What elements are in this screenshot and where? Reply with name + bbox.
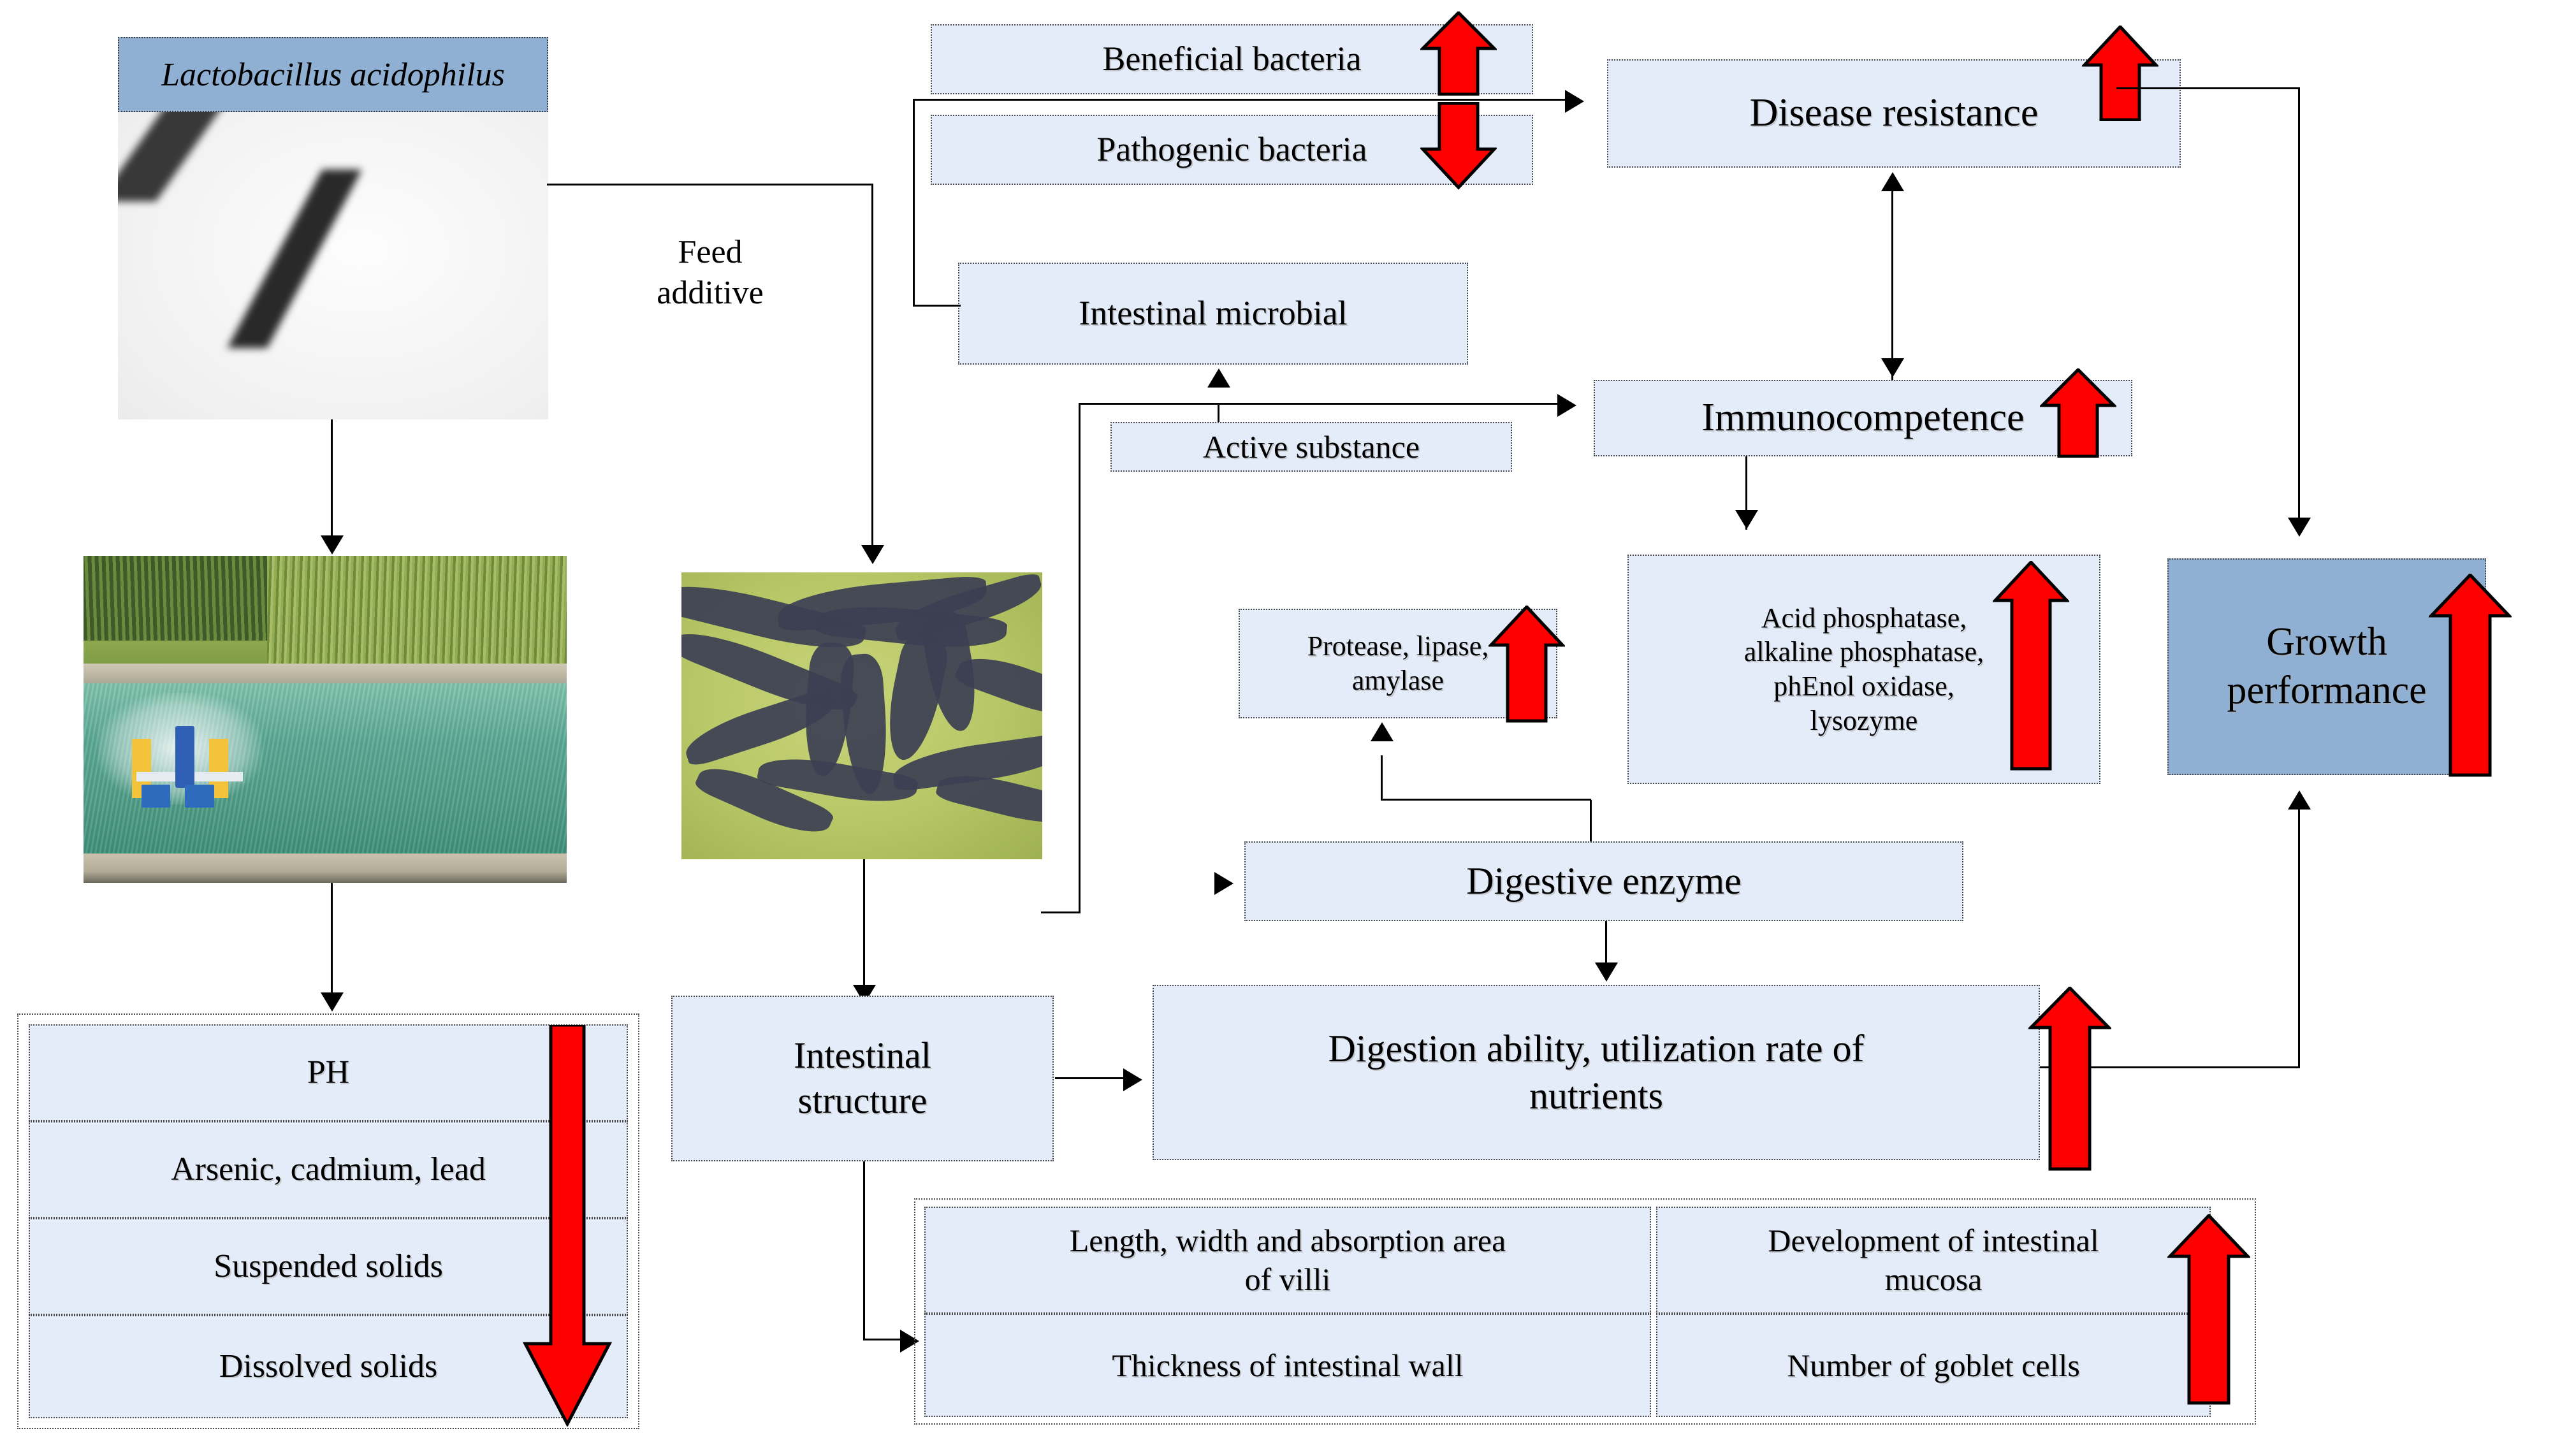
node-feed-additive[interactable]: Feed additive: [622, 210, 799, 335]
arrowhead-to-immunocompetence: [1557, 394, 1576, 417]
connector-to-immunocompetence: [1079, 403, 1562, 405]
connector-structure-to-villi-vertical: [863, 1161, 865, 1340]
bacteria-image-panel: Lactobacillus acidophilus: [118, 37, 548, 419]
bacteria-caption: Lactobacillus acidophilus: [118, 37, 548, 112]
arrowhead-immuno-to-disease: [1881, 172, 1904, 191]
arrowhead-enzyme-to-digestion: [1595, 962, 1618, 982]
connector-digestion-to-growth-vertical: [2298, 807, 2300, 1068]
node-goblet-cells[interactable]: Number of goblet cells: [1656, 1314, 2211, 1417]
red-up-arrow-icon-digestive-enzymes-list: [1488, 606, 1565, 723]
connector-enzyme-to-list-horizontal: [1381, 799, 1591, 801]
arrowhead-feed-to-fish: [861, 545, 884, 564]
node-intestinal-microbial[interactable]: Intestinal microbial: [958, 263, 1468, 365]
connector-feed-additive-drop: [871, 184, 873, 553]
connector-microbial-to-disease-resistance: [913, 99, 1569, 101]
pond-photo: [84, 556, 567, 883]
bacteria-micrograph: [118, 112, 548, 419]
node-active-substance[interactable]: Active substance: [1110, 422, 1512, 472]
connector-structure-to-villi-horizontal: [863, 1339, 903, 1340]
arrowhead-disease-to-growth: [2288, 518, 2311, 537]
node-intestinal-structure[interactable]: Intestinal structure: [671, 996, 1054, 1161]
connector-disease-to-growth-top: [2116, 87, 2300, 89]
node-digestion-ability[interactable]: Digestion ability, utilization rate of n…: [1153, 985, 2040, 1160]
arrowhead-digestion-to-growth: [2288, 790, 2311, 810]
red-up-arrow-icon-growth-performance: [2429, 574, 2512, 778]
connector-bacteria-to-pond: [331, 419, 333, 544]
connector-enzyme-to-list-up: [1381, 755, 1383, 800]
connector-bacteria-out: [547, 184, 873, 185]
node-intestinal-wall[interactable]: Thickness of intestinal wall: [924, 1314, 1651, 1417]
flowchart-canvas: Lactobacillus acidophilus PH Arsenic, ca…: [0, 0, 2576, 1438]
connector-fish-to-immuno-vertical: [1079, 403, 1081, 913]
arrowhead-disease-to-immuno: [1881, 358, 1904, 377]
arrowhead-immuno-to-enzymes: [1735, 510, 1758, 529]
node-mucosa[interactable]: Development of intestinal mucosa: [1656, 1207, 2211, 1314]
red-down-arrow-icon-water-quality: [523, 1025, 612, 1427]
red-up-arrow-icon-digestion-ability: [2028, 987, 2111, 1172]
red-up-arrow-icon-immunocompetence: [2040, 368, 2116, 458]
connector-disease-immuno: [1891, 182, 1893, 380]
arrowhead-active-substance-to-microbial: [1207, 368, 1230, 388]
connector-disease-to-growth-vertical: [2298, 87, 2300, 527]
red-up-arrow-icon-beneficial-bacteria: [1420, 11, 1497, 96]
red-up-arrow-icon-intestinal-development: [2167, 1214, 2250, 1405]
red-down-arrow-icon-pathogenic-bacteria: [1420, 102, 1497, 190]
connector-intestinal-structure-to-digestion: [1055, 1077, 1125, 1079]
arrowhead-to-disease-resistance: [1565, 90, 1584, 113]
arrowhead-pond-to-water-quality: [321, 992, 344, 1012]
connector-pond-to-water-quality: [331, 883, 333, 1001]
connector-microbial-bracket-vertical: [913, 99, 915, 306]
red-up-arrow-icon-disease-resistance: [2082, 25, 2158, 121]
connector-enzyme-to-list-vertical: [1590, 800, 1592, 841]
node-feed-additive-label: Feed additive: [657, 232, 764, 313]
arrowhead-to-digestive-enzyme: [1214, 872, 1233, 895]
arrowhead-intestinal-structure-to-digestion: [1123, 1068, 1142, 1091]
connector-fish-to-immuno-bottom: [1041, 911, 1081, 913]
node-villi[interactable]: Length, width and absorption area of vil…: [924, 1207, 1651, 1314]
connector-microbial-bracket-left: [913, 305, 961, 307]
arrowhead-enzyme-to-list: [1371, 722, 1394, 741]
node-digestive-enzyme[interactable]: Digestive enzyme: [1244, 841, 1963, 921]
arrowhead-bacteria-to-pond: [321, 535, 344, 555]
connector-fish-to-intestinal-structure: [863, 859, 865, 993]
red-up-arrow-icon-immune-enzymes: [1993, 561, 2069, 771]
fish-photo: [681, 572, 1042, 859]
